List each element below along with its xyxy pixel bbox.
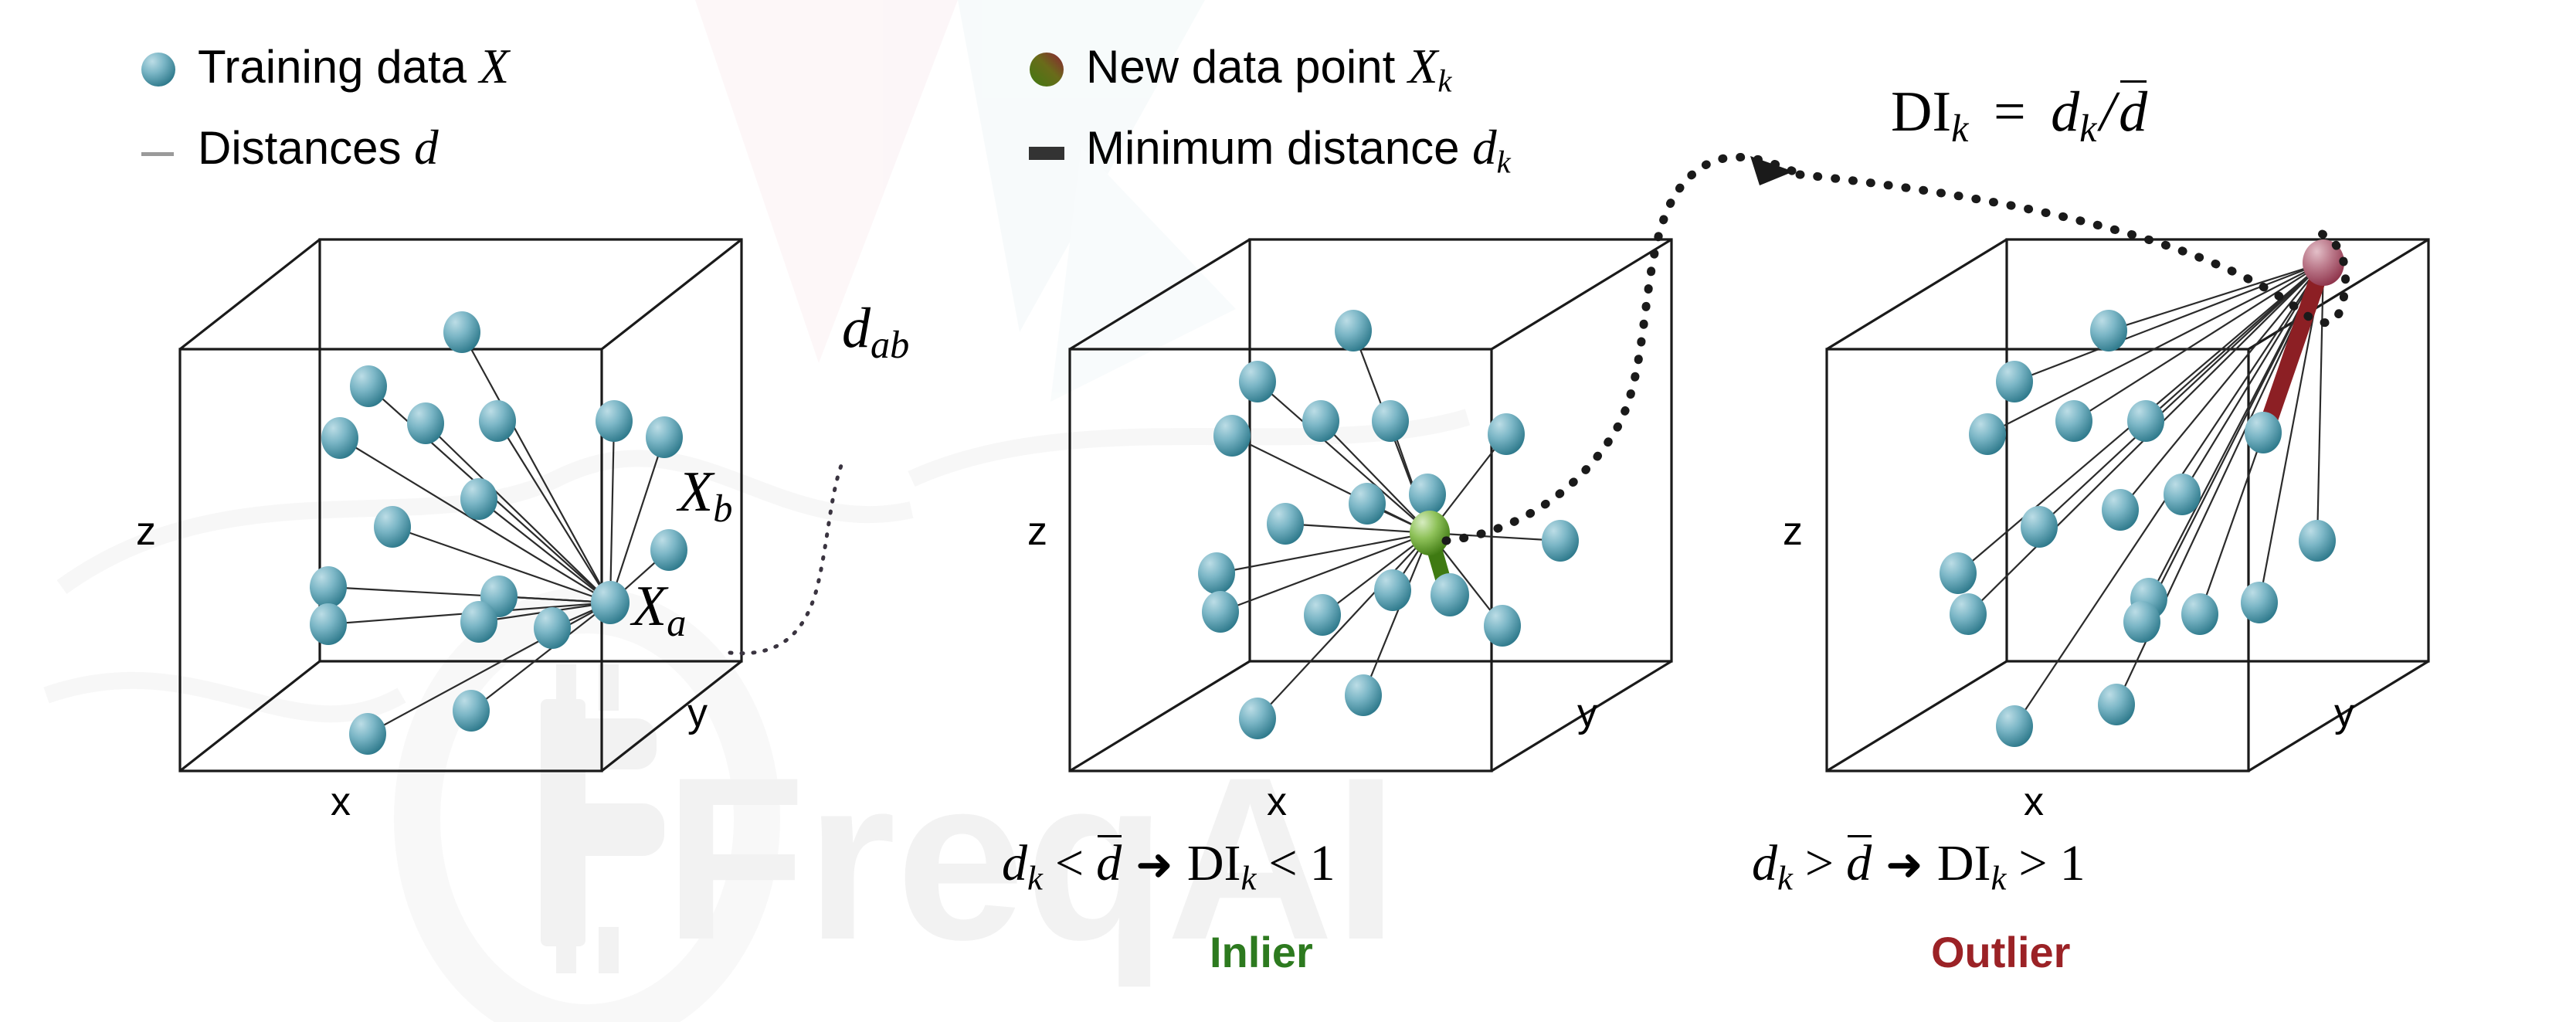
data-point — [1484, 605, 1521, 647]
panel-training-axis-y: y — [687, 693, 708, 733]
dab-base: d — [842, 297, 871, 360]
panel-training-axis-x: x — [331, 782, 351, 822]
panel-training-axis-z: z — [136, 511, 156, 552]
panel-inlier-axis-x: x — [1267, 782, 1287, 822]
inlier-dk: d — [1002, 835, 1027, 891]
data-point — [2241, 582, 2278, 623]
data-point — [2164, 474, 2201, 515]
data-point-Xa — [591, 581, 630, 624]
data-point — [596, 400, 633, 442]
data-point — [1239, 698, 1276, 739]
data-point — [646, 416, 683, 458]
data-point — [1202, 591, 1239, 633]
data-point — [443, 311, 480, 353]
panel-inlier-points — [1198, 310, 1579, 739]
data-point — [2123, 601, 2160, 643]
inlier-DI-sub: k — [1240, 859, 1256, 898]
data-point — [1542, 520, 1579, 562]
panel-training-points — [310, 311, 687, 755]
dotted-connector-arrowhead — [1750, 156, 1794, 185]
data-point — [374, 506, 411, 548]
data-point-nearest-neighbor — [2245, 412, 2282, 453]
data-point — [2021, 506, 2058, 548]
panel-training-label-Xb: Xb — [678, 463, 732, 528]
inlier-value: 1 — [1310, 835, 1336, 891]
outlier-value: 1 — [2060, 835, 2086, 891]
data-point — [1335, 310, 1372, 351]
data-point — [1198, 552, 1235, 594]
dab-sub: ab — [871, 323, 909, 366]
data-point — [1267, 503, 1304, 545]
outlier-DI-sub: k — [1991, 859, 2006, 898]
panel-inlier-axis-y: y — [1577, 693, 1597, 733]
figure-canvas: FreqAI — [0, 0, 2576, 1022]
data-point — [1996, 705, 2033, 747]
panel-outlier-axis-z: z — [1783, 511, 1803, 552]
panel-outlier-verdict: Outlier — [1931, 931, 2070, 974]
outlier-dbar: d — [1846, 838, 1872, 889]
data-point — [2055, 400, 2092, 442]
data-point — [407, 402, 444, 444]
data-point — [2299, 520, 2336, 562]
panel-training-cube — [180, 239, 842, 771]
data-point — [460, 478, 497, 520]
data-point — [1239, 361, 1276, 402]
inlier-dbar: d — [1096, 838, 1122, 889]
data-point — [460, 601, 497, 643]
outlier-rel2: > — [2018, 835, 2047, 891]
data-point-Xb — [650, 529, 687, 571]
data-point — [310, 603, 347, 645]
data-point — [2098, 684, 2135, 725]
data-point — [2102, 489, 2139, 531]
outlier-dk-sub: k — [1777, 859, 1793, 898]
data-point — [1213, 415, 1251, 457]
data-point — [350, 365, 387, 407]
data-point — [1969, 413, 2006, 455]
panel-outlier-axis-x: x — [2024, 782, 2044, 822]
dotted-connector-left — [1446, 157, 1794, 541]
data-point — [1349, 483, 1386, 525]
data-point — [2127, 400, 2164, 442]
data-point — [1302, 400, 1339, 442]
inlier-arrow-icon: ➜ — [1135, 840, 1173, 890]
Xb-base: X — [678, 460, 713, 524]
inlier-DI: DI — [1187, 835, 1241, 891]
data-point — [534, 607, 571, 649]
data-point — [1374, 569, 1411, 611]
outlier-DI: DI — [1937, 835, 1991, 891]
Xa-sub: a — [667, 601, 686, 644]
panel-training-label-Xa: Xa — [632, 578, 686, 642]
data-point — [1372, 400, 1409, 442]
inlier-rel1: < — [1055, 835, 1084, 891]
outlier-arrow-icon: ➜ — [1885, 840, 1923, 890]
data-point — [1940, 552, 1977, 594]
panel-training-dab-callout — [730, 463, 842, 654]
panel-inlier-caption: dk<d➜DIk<1 — [1002, 838, 1336, 895]
data-point — [310, 566, 347, 608]
data-point — [1996, 361, 2033, 402]
data-point — [321, 417, 358, 459]
data-point — [1409, 474, 1446, 515]
Xa-base: X — [632, 575, 667, 638]
panel-inlier-verdict: Inlier — [1210, 931, 1313, 974]
data-point — [1345, 674, 1382, 716]
outlier-rel1: > — [1805, 835, 1834, 891]
panel-outlier-points — [1940, 239, 2344, 747]
data-point — [479, 400, 516, 442]
data-point — [1488, 413, 1525, 455]
data-point-nearest-neighbor — [1431, 573, 1469, 616]
panel-training-dab-label: dab — [842, 300, 909, 364]
data-point — [349, 713, 386, 755]
outlier-dk: d — [1752, 835, 1777, 891]
data-point — [1304, 594, 1341, 636]
Xb-sub: b — [713, 487, 732, 530]
panel-inlier-axis-z: z — [1027, 511, 1047, 552]
inlier-rel2: < — [1268, 835, 1297, 891]
inlier-dk-sub: k — [1027, 859, 1043, 898]
data-point — [1950, 593, 1987, 635]
data-point — [2090, 310, 2127, 351]
panel-outlier-axis-y: y — [2334, 693, 2354, 733]
new-data-point-inlier — [1410, 511, 1450, 555]
panel-outlier-distance-lines — [1958, 263, 2323, 726]
data-point — [453, 690, 490, 732]
data-point — [2181, 593, 2218, 635]
panel-outlier-caption: dk>d➜DIk>1 — [1752, 838, 2086, 895]
